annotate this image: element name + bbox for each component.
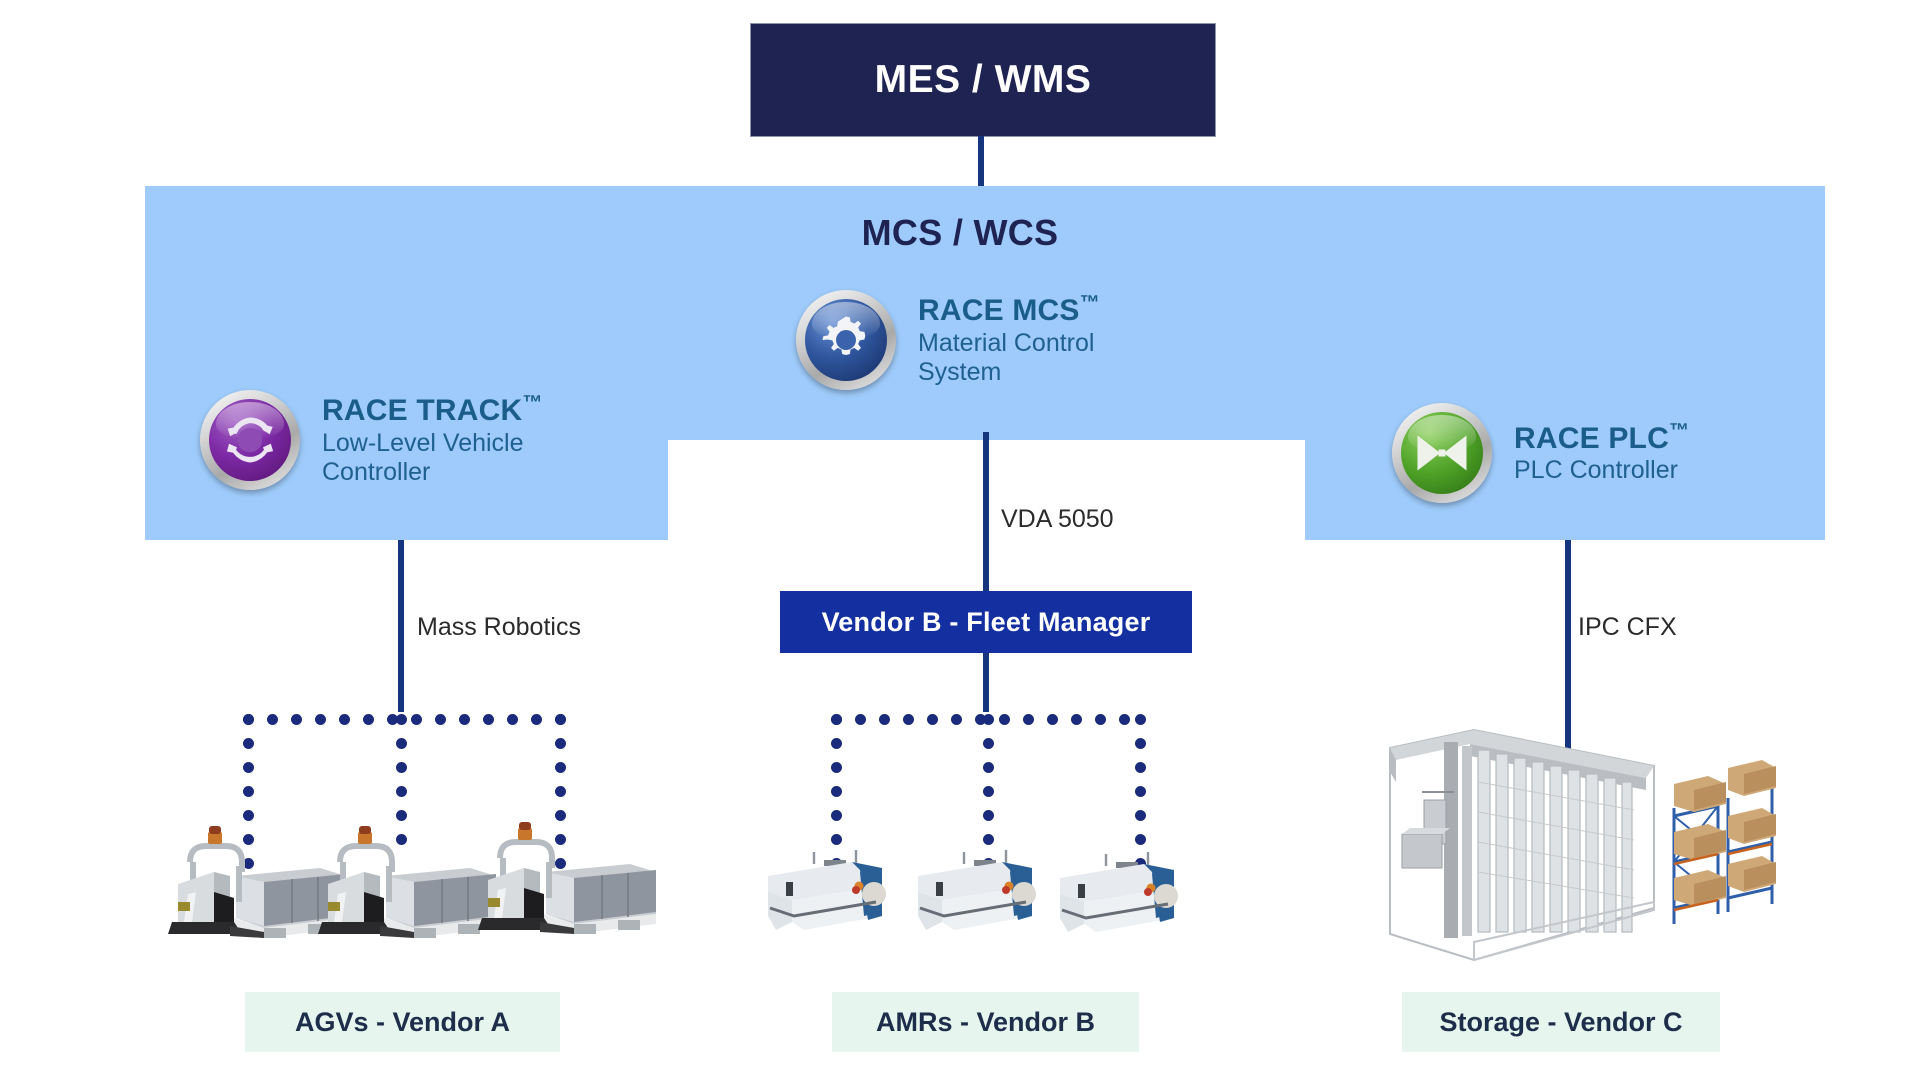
circular-arrows-icon (209, 399, 291, 481)
bus-dot (983, 810, 994, 821)
bus-dot (1135, 810, 1146, 821)
gear-icon (805, 299, 887, 381)
caption-pill-storage: Storage - Vendor C (1402, 992, 1720, 1052)
caption-pill-agvs: AGVs - Vendor A (245, 992, 560, 1052)
bus-dot (831, 834, 842, 845)
bus-dot (1135, 762, 1146, 773)
bus-dot (983, 834, 994, 845)
bus-dot (1071, 714, 1082, 725)
bus-dot (1135, 738, 1146, 749)
caption-pill-amrs: AMRs - Vendor B (832, 992, 1139, 1052)
bus-dot (831, 810, 842, 821)
asrs-storage-system (1378, 712, 1778, 985)
bus-dot (903, 714, 914, 725)
amr-robot (764, 846, 900, 932)
bus-dot (1135, 834, 1146, 845)
caption-agvs-label: AGVs - Vendor A (295, 1007, 510, 1038)
bus-dot (983, 738, 994, 749)
bus-dot (983, 714, 994, 725)
bus-dot (999, 714, 1010, 725)
amr-robot (914, 846, 1050, 932)
bus-dot (1135, 786, 1146, 797)
architecture-diagram: MES / WMS MCS / WCS RACE MCS™ Material C… (0, 0, 1920, 1080)
bus-dot (855, 714, 866, 725)
bus-dot (831, 762, 842, 773)
bus-dot (831, 786, 842, 797)
bus-dot (951, 714, 962, 725)
caption-storage-label: Storage - Vendor C (1439, 1007, 1682, 1038)
bus-dot (879, 714, 890, 725)
bus-dot (1135, 714, 1146, 725)
bus-dot (983, 786, 994, 797)
bus-dot (1119, 714, 1130, 725)
bus-dot (927, 714, 938, 725)
amr-robot (1056, 848, 1192, 934)
bus-dot (831, 714, 842, 725)
agv-vehicle (478, 806, 656, 936)
agv-vehicle (318, 810, 496, 940)
caption-amrs-label: AMRs - Vendor B (876, 1007, 1095, 1038)
bus-dot (983, 762, 994, 773)
bus-dot (831, 738, 842, 749)
bus-dot (1023, 714, 1034, 725)
bus-dot (1095, 714, 1106, 725)
bus-dot (1047, 714, 1058, 725)
